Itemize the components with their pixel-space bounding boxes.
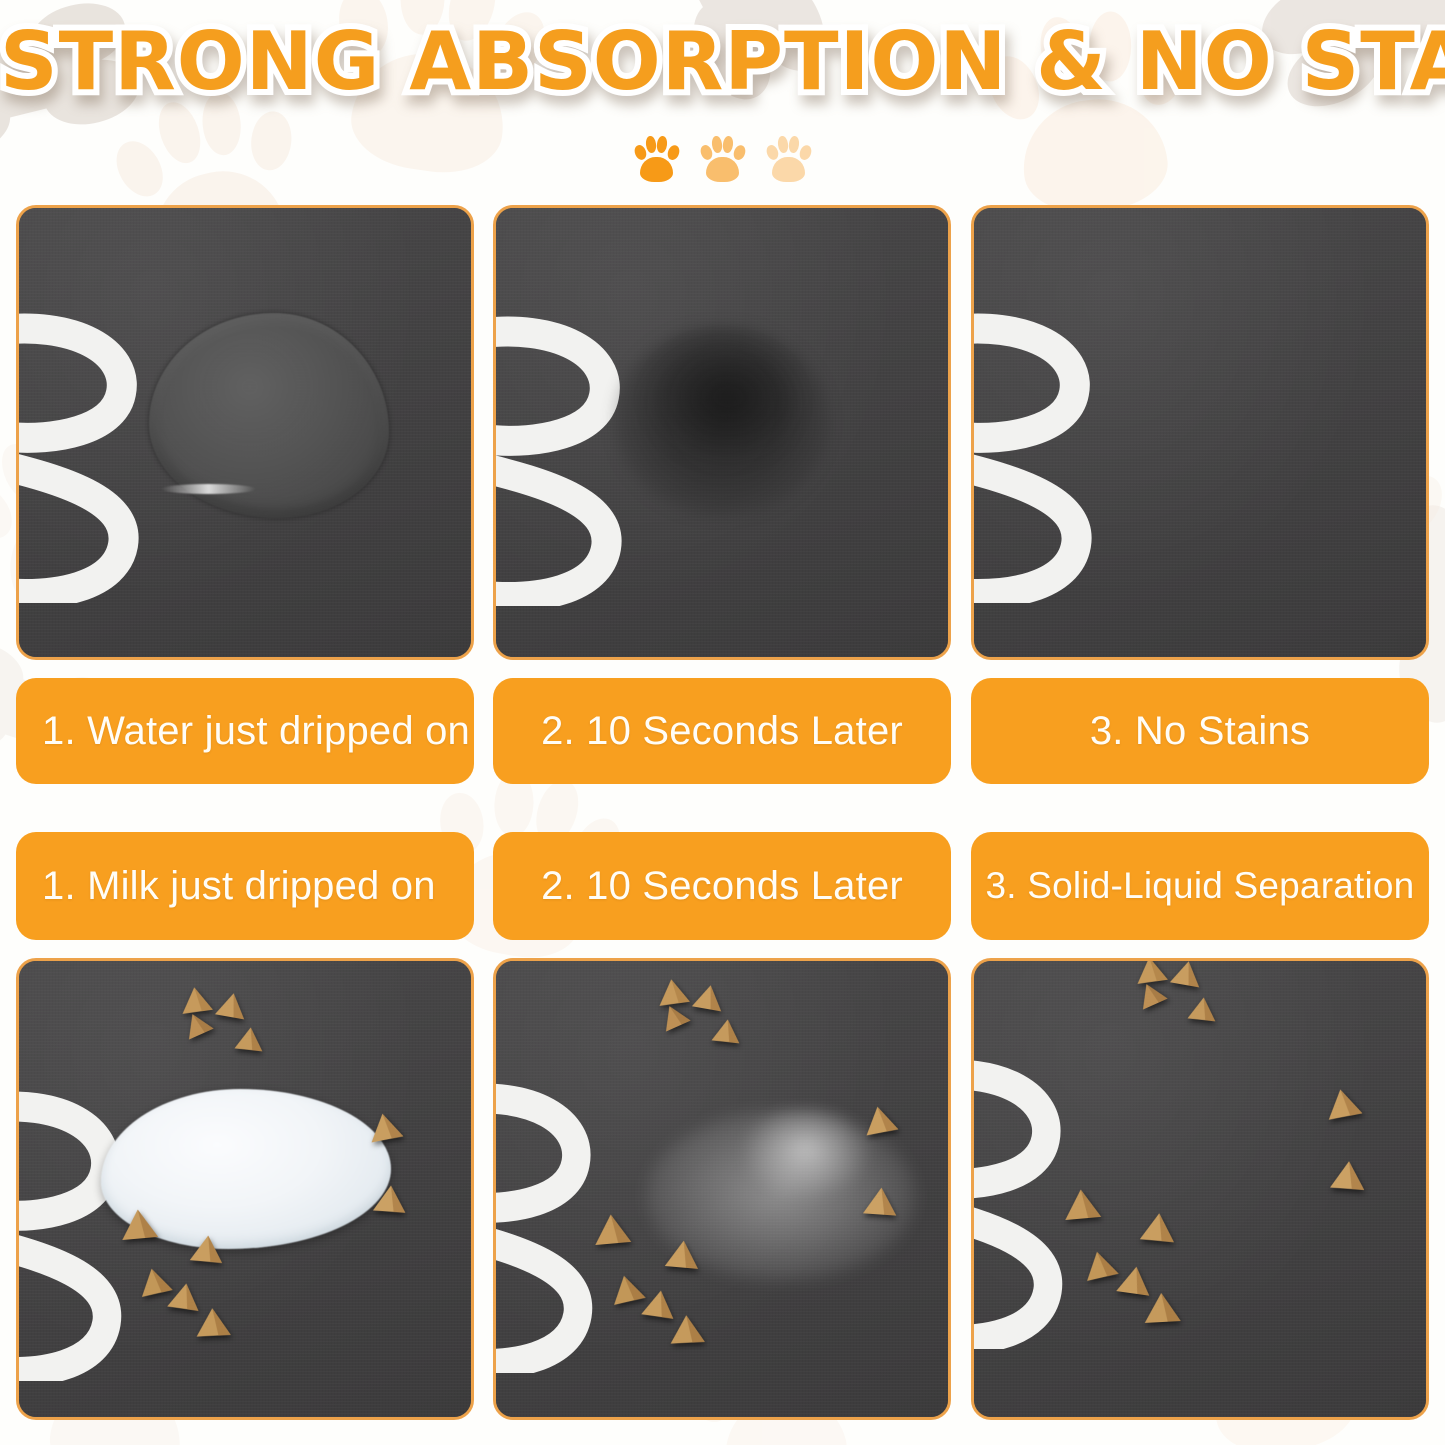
mat-surface — [496, 208, 948, 657]
mat-surface — [19, 208, 471, 657]
photo-milk-step-3 — [971, 958, 1429, 1420]
caption-milk-step-2: 2. 10 Seconds Later — [493, 832, 951, 940]
paw-icon-2 — [701, 136, 745, 182]
caption-milk-step-3: 3. Solid-Liquid Separation — [971, 832, 1429, 940]
paw-icon-3 — [767, 136, 811, 182]
paw-icon-1 — [635, 136, 679, 182]
photo-water-step-1 — [16, 205, 474, 660]
photo-milk-step-1 — [16, 958, 474, 1420]
photo-water-step-2 — [493, 205, 951, 660]
page-title: STRONG ABSORPTION & NO STAINS — [0, 20, 1445, 105]
photo-milk-step-2 — [493, 958, 951, 1420]
caption-water-step-2: 2. 10 Seconds Later — [493, 678, 951, 784]
paw-divider — [0, 136, 1445, 182]
mat-surface — [974, 961, 1426, 1417]
mat-surface — [19, 961, 471, 1417]
caption-milk-step-1: 1. Milk just dripped on — [16, 832, 474, 940]
caption-water-step-3: 3. No Stains — [971, 678, 1429, 784]
page-title-wrapper: STRONG ABSORPTION & NO STAINS — [0, 20, 1445, 105]
header: STRONG ABSORPTION & NO STAINS — [0, 0, 1445, 200]
photo-water-step-3 — [971, 205, 1429, 660]
mat-surface — [974, 208, 1426, 657]
caption-water-step-1: 1. Water just dripped on — [16, 678, 474, 784]
mat-surface — [496, 961, 948, 1417]
comparison-grid: 1. Water just dripped on 2. 10 Seconds L… — [0, 0, 1445, 1445]
